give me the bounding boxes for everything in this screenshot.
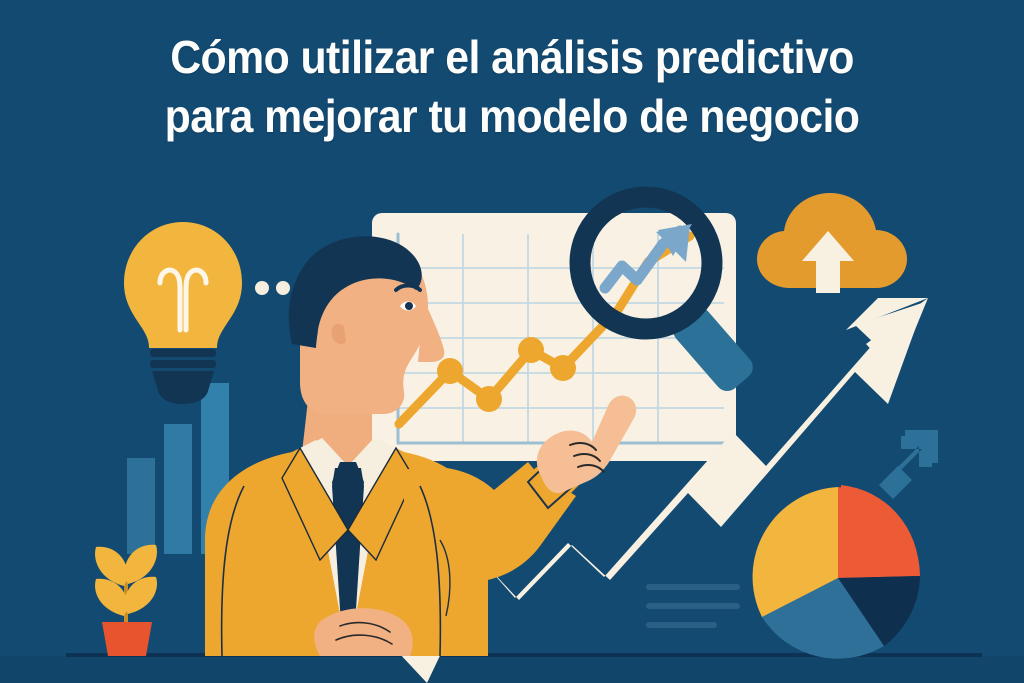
illustration-canvas: Cómo utilizar el análisis predictivo par… xyxy=(0,0,1024,683)
magnifier-layer xyxy=(0,0,1024,683)
magnifying-glass-icon xyxy=(580,197,758,396)
